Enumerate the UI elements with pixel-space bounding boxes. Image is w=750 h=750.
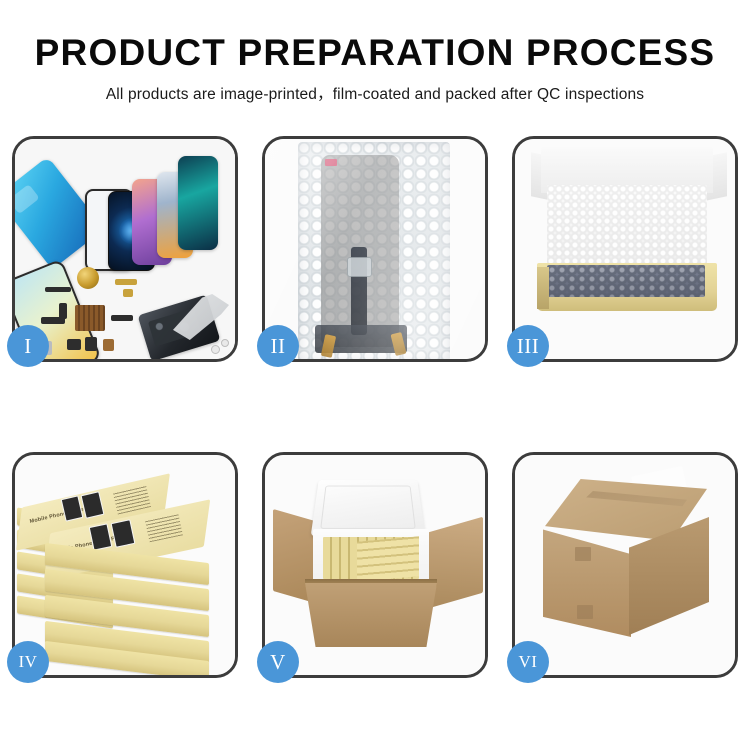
- button-flex: [59, 303, 67, 319]
- screw-set: [211, 345, 220, 354]
- speaker-module: [77, 267, 99, 289]
- step-panel-vi[interactable]: VI: [512, 452, 738, 678]
- step-image-vi: [515, 455, 735, 675]
- step-panel-ii[interactable]: II: [262, 136, 488, 362]
- step-badge-iii: III: [507, 325, 549, 367]
- flex-cable-3: [111, 315, 133, 321]
- camera-module: [85, 337, 97, 351]
- carton-left-face: [543, 525, 631, 637]
- page-title: PRODUCT PREPARATION PROCESS: [0, 34, 750, 73]
- chip-array: [75, 305, 105, 331]
- packed-retail-boxes-2: [357, 536, 419, 581]
- connector-block: [67, 339, 81, 350]
- process-steps-grid: I II: [0, 136, 750, 678]
- flex-connector: [347, 257, 372, 277]
- process-row-bottom: Mobile Phone Spare Parts Mobile Phone Sp…: [0, 452, 750, 678]
- page-subtitle: All products are image-printed，film-coat…: [0, 82, 750, 104]
- vibration-motor: [103, 339, 114, 351]
- flex-cable-1: [45, 287, 71, 292]
- step-badge-vi: VI: [507, 641, 549, 683]
- step-panel-v[interactable]: V: [262, 452, 488, 678]
- step-image-ii: [265, 139, 485, 359]
- pink-label: [325, 159, 337, 166]
- page-header: PRODUCT PREPARATION PROCESS All products…: [0, 0, 750, 104]
- carton-tab-upper: [575, 547, 591, 561]
- step-panel-i[interactable]: I: [12, 136, 238, 362]
- carton-tab-lower: [577, 605, 593, 619]
- phone-display-teal: [178, 156, 218, 250]
- foam-lid: [311, 480, 426, 536]
- step-badge-i: I: [7, 325, 49, 367]
- step-image-iv: Mobile Phone Spare Parts Mobile Phone Sp…: [15, 455, 235, 675]
- step-image-i: [15, 139, 235, 359]
- step-image-v: [265, 455, 485, 675]
- tray-edge-left: [537, 267, 549, 309]
- retail-box-stack: Mobile Phone Spare Parts Mobile Phone Sp…: [15, 455, 235, 675]
- step-panel-iv[interactable]: Mobile Phone Spare Parts Mobile Phone Sp…: [12, 452, 238, 678]
- flex-cable-gold-2: [123, 289, 133, 297]
- foam-sheet: [547, 185, 707, 269]
- step-badge-iv: IV: [7, 641, 49, 683]
- step-image-iii: [515, 139, 735, 359]
- screw-set-2: [221, 339, 229, 347]
- step-badge-v: V: [257, 641, 299, 683]
- step-panel-iii[interactable]: III: [512, 136, 738, 362]
- flex-cable-gold-1: [115, 279, 137, 285]
- step-badge-ii: II: [257, 325, 299, 367]
- carton-front-panel: [305, 583, 437, 647]
- process-row-top: I II: [0, 136, 750, 362]
- packed-parts-grey: [547, 265, 705, 297]
